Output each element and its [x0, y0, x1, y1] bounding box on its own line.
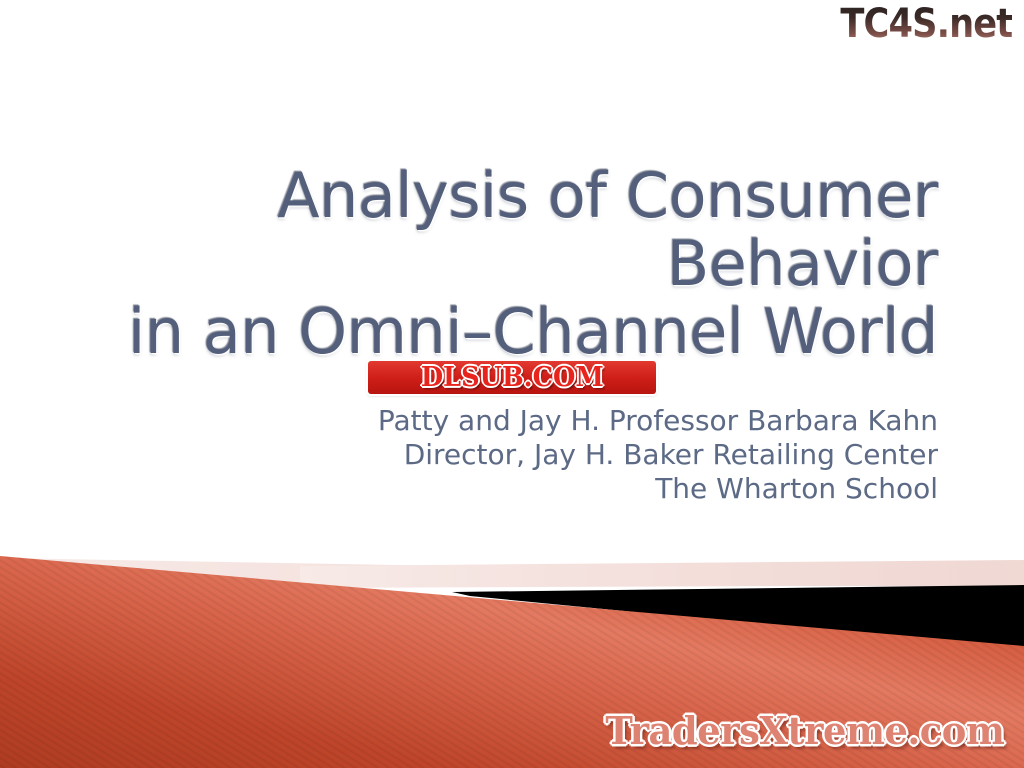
subtitle-line-role: Director, Jay H. Baker Retailing Center	[60, 438, 938, 472]
subtitle-line-presenter: Patty and Jay H. Professor Barbara Kahn	[60, 404, 938, 438]
watermark-tc4s: TC4S.net	[840, 2, 1012, 46]
title-line-2: Behavior	[60, 230, 938, 298]
subtitle-line-institution: The Wharton School	[60, 472, 938, 506]
watermark-dlsub-label: DLSUB.COM	[421, 364, 604, 392]
title-line-3: in an Omni–Channel World	[60, 298, 938, 366]
presentation-slide: Analysis of Consumer Behavior in an Omni…	[0, 0, 1024, 768]
title-line-1: Analysis of Consumer	[60, 162, 938, 230]
slide-title: Analysis of Consumer Behavior in an Omni…	[60, 162, 938, 366]
watermark-tradersxtreme: TradersXtreme.com	[605, 710, 1004, 752]
decor-shape-pink-band	[300, 560, 1024, 588]
watermark-dlsub: DLSUB.COM	[368, 361, 656, 394]
slide-subtitle: Patty and Jay H. Professor Barbara Kahn …	[60, 404, 938, 506]
